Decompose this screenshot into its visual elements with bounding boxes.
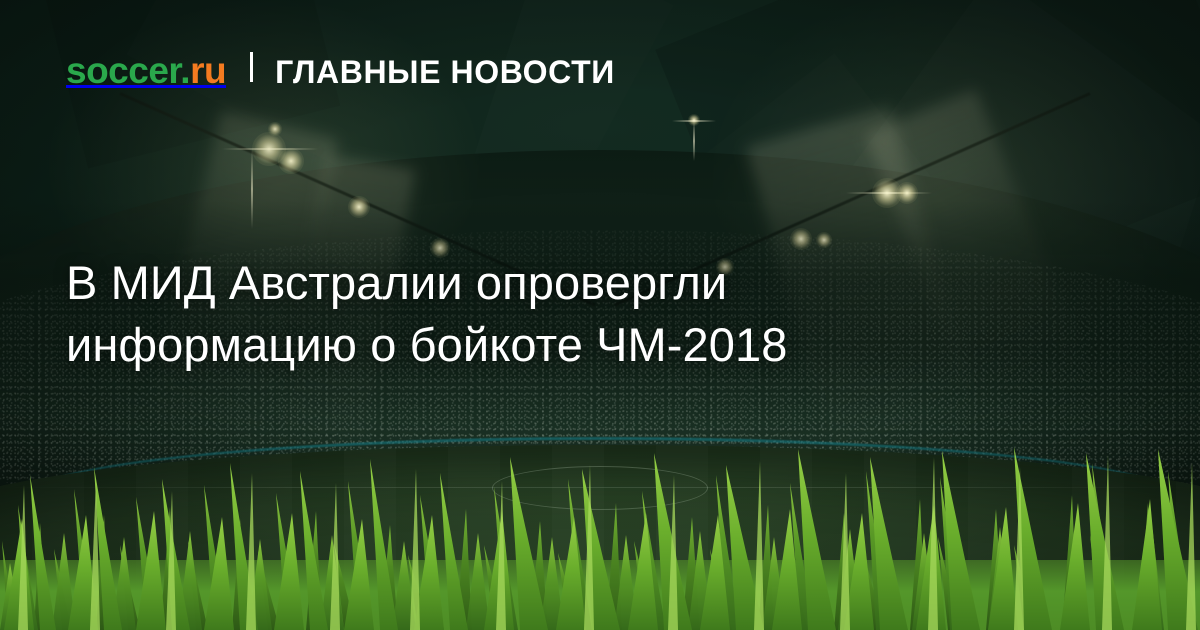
headline-line-2: информацию о бойкоте ЧМ-2018 <box>66 314 1076 376</box>
grass-blades <box>0 445 1200 630</box>
headline-line-1: В МИД Австралии опровергли <box>66 252 1076 314</box>
news-poster: soccer.ru ГЛАВНЫЕ НОВОСТИ В МИД Австрали… <box>0 0 1200 630</box>
logo-text-soccer: soccer <box>66 50 180 91</box>
vertical-bar-icon <box>250 52 253 82</box>
page-title: В МИД Австралии опровергли информацию о … <box>66 252 1076 376</box>
soccer-ru-logo[interactable]: soccer.ru <box>66 52 226 89</box>
grass-icon <box>0 445 1200 630</box>
logo-text-ru: ru <box>190 50 226 91</box>
header-kicker: ГЛАВНЫЕ НОВОСТИ <box>275 56 615 88</box>
logo-text-dot: . <box>180 50 190 91</box>
site-header: soccer.ru ГЛАВНЫЕ НОВОСТИ <box>66 52 615 89</box>
